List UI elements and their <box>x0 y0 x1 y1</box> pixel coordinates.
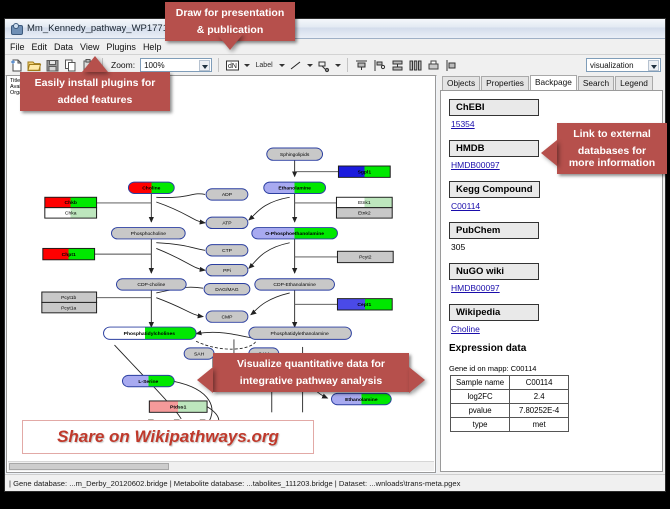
stack-icon[interactable] <box>390 58 405 73</box>
tab-objects[interactable]: Objects <box>442 76 480 90</box>
tab-properties[interactable]: Properties <box>481 76 529 90</box>
svg-text:Cept1: Cept1 <box>357 302 371 308</box>
svg-text:Pcyt1a: Pcyt1a <box>61 305 76 311</box>
node-phosphatidylcholines[interactable]: Phosphatidylcholines <box>104 327 197 339</box>
node-atp[interactable]: ATP <box>206 217 248 228</box>
table-row: log2FC 2.4 <box>451 390 569 404</box>
menu-view[interactable]: View <box>80 42 99 52</box>
cell-value: C00114 <box>510 376 569 390</box>
plugins-callout: Easily install plugins for added feature… <box>20 72 170 111</box>
link-callout-line3: more information <box>557 157 667 174</box>
svg-text:Pcyt1b: Pcyt1b <box>61 295 76 301</box>
datanode-icon[interactable]: dN <box>225 58 240 73</box>
visualize-callout-line1: Visualize quantitative data for <box>213 353 409 375</box>
svg-text:CTP: CTP <box>222 248 232 254</box>
menu-edit[interactable]: Edit <box>32 42 48 52</box>
node-ethanolamine-top[interactable]: Ethanolamine <box>264 182 326 193</box>
link-callout-arrow <box>541 140 557 166</box>
screenshot-root: Mm_Kennedy_pathway_WP1771_45176.gpml Fil… <box>0 0 670 509</box>
label-dropdown-icon[interactable] <box>278 58 285 73</box>
svg-text:Sgpl1: Sgpl1 <box>358 170 372 176</box>
plugins-callout-line2: added features <box>20 94 170 111</box>
svg-text:ADP: ADP <box>222 192 232 198</box>
svg-text:DAG/MAG: DAG/MAG <box>215 287 239 293</box>
svg-text:Choline: Choline <box>142 186 161 192</box>
visualize-callout-line2: integrative pathway analysis <box>213 375 409 392</box>
node-ctp[interactable]: CTP <box>206 245 248 256</box>
chevron-down-icon[interactable] <box>648 60 659 71</box>
svg-text:Etnk2: Etnk2 <box>358 211 371 217</box>
canvas-hscrollbar[interactable] <box>8 461 434 471</box>
table-row: pvalue 7.80252E-4 <box>451 404 569 418</box>
zoom-value: 100% <box>144 61 164 70</box>
visualize-callout: Visualize quantitative data for integrat… <box>213 353 409 392</box>
link-callout: Link to external databases for more info… <box>557 123 667 174</box>
distribute-icon[interactable] <box>408 58 423 73</box>
node-sah[interactable]: SAH <box>184 348 214 359</box>
draw-callout-arrow <box>217 34 243 50</box>
gene-pcyt1b[interactable]: Pcyt1b <box>42 292 97 302</box>
tab-legend[interactable]: Legend <box>615 76 653 90</box>
pathway-canvas[interactable]: Title: Availa Organ <box>6 75 436 473</box>
plugins-callout-arrow <box>82 56 108 72</box>
gene-pcyt1a[interactable]: Pcyt1a <box>42 302 97 312</box>
shape-icon[interactable] <box>316 58 331 73</box>
node-phosphocholine[interactable]: Phosphocholine <box>112 228 186 239</box>
svg-text:CDP-Ethanolamine: CDP-Ethanolamine <box>273 282 316 288</box>
expression-data-table: Sample name C00114 log2FC 2.4 pvalue 7.8… <box>450 375 569 432</box>
gene-sgpl1[interactable]: Sgpl1 <box>338 166 390 177</box>
share-banner: Share on Wikipathways.org <box>22 420 314 454</box>
share-banner-text: Share on Wikipathways.org <box>57 427 279 447</box>
node-adp[interactable]: ADP <box>206 189 248 200</box>
svg-text:CMP: CMP <box>221 314 232 320</box>
order-icon[interactable] <box>444 58 459 73</box>
svg-text:Ethanolamine: Ethanolamine <box>278 186 311 192</box>
zoom-label: Zoom: <box>111 60 135 70</box>
node-o-phosphoethanolamine[interactable]: O-Phosphoethanolamine <box>252 228 338 239</box>
svg-text:Ethanolamine: Ethanolamine <box>345 397 378 403</box>
backpage-heading-pubchem: PubChem <box>449 222 539 239</box>
svg-text:dN: dN <box>228 63 237 70</box>
svg-text:Chkb: Chkb <box>64 200 76 206</box>
line-dropdown-icon[interactable] <box>306 58 313 73</box>
app-icon <box>10 22 23 35</box>
svg-text:SAH: SAH <box>194 351 205 357</box>
svg-text:Phosphatidylcholines: Phosphatidylcholines <box>124 331 176 337</box>
cell-label: Sample name <box>451 376 510 390</box>
canvas-hscrollbar-thumb[interactable] <box>9 463 169 470</box>
chevron-down-icon[interactable] <box>199 60 210 71</box>
cell-value: 2.4 <box>510 390 569 404</box>
gene-etnk1[interactable]: Etnk1 <box>336 197 392 207</box>
copy-icon[interactable] <box>63 58 78 73</box>
svg-text:Pcyt2: Pcyt2 <box>359 255 372 261</box>
cell-label: log2FC <box>451 390 510 404</box>
svg-text:Etnk1: Etnk1 <box>358 200 371 206</box>
backpage-link-nugo[interactable]: HMDB00097 <box>451 283 654 293</box>
backpage-link-kegg[interactable]: C00114 <box>451 201 654 211</box>
svg-text:Ptdss1: Ptdss1 <box>170 404 187 410</box>
gene-chpt1[interactable]: Chpt1 <box>43 248 95 259</box>
cell-value: 7.80252E-4 <box>510 404 569 418</box>
gene-pcyt2[interactable]: Pcyt2 <box>337 251 393 262</box>
title-bar: Mm_Kennedy_pathway_WP1771_45176.gpml <box>5 19 665 39</box>
gene-etnk2[interactable]: Etnk2 <box>336 208 392 218</box>
svg-text:ATP: ATP <box>222 221 231 227</box>
node-l-serine-left[interactable]: L-Serine <box>122 375 174 386</box>
node-sphingolipids[interactable]: Sphingolipids <box>267 148 323 160</box>
gene-chka[interactable]: Chka <box>45 208 97 218</box>
svg-text:Chka: Chka <box>65 211 77 217</box>
align-left-icon[interactable] <box>372 58 387 73</box>
svg-text:Sphingolipids: Sphingolipids <box>280 152 310 158</box>
tab-search[interactable]: Search <box>578 76 614 90</box>
backpage-heading-nugo: NuGO wiki <box>449 263 539 280</box>
table-row: Sample name C00114 <box>451 376 569 390</box>
node-cdp-ethanolamine[interactable]: CDP-Ethanolamine <box>255 279 335 290</box>
node-choline-top[interactable]: Choline <box>128 182 174 193</box>
draw-callout-line1: Draw for presentation <box>165 2 295 24</box>
status-bar: | Gene database: ...m_Derby_20120602.bri… <box>5 474 665 491</box>
align-top-icon[interactable] <box>354 58 369 73</box>
table-row: type met <box>451 418 569 432</box>
menu-plugins[interactable]: Plugins <box>106 42 136 52</box>
node-cmp[interactable]: CMP <box>206 311 248 322</box>
backpage-value-pubchem: 305 <box>451 242 654 252</box>
backpage-heading-hmdb: HMDB <box>449 140 539 157</box>
backpage-heading-wikipedia: Wikipedia <box>449 304 539 321</box>
backpage-heading-kegg: Kegg Compound <box>449 181 540 198</box>
node-cdp-choline[interactable]: CDP-choline <box>116 279 186 290</box>
svg-text:PPi: PPi <box>223 268 231 274</box>
svg-text:CDP-choline: CDP-choline <box>137 282 165 288</box>
svg-text:L-Serine: L-Serine <box>138 379 158 385</box>
visualize-callout-arrow-left <box>197 367 213 393</box>
save-file-icon[interactable] <box>45 58 60 73</box>
link-callout-line2: databases for <box>557 145 667 157</box>
tab-backpage[interactable]: Backpage <box>530 75 577 90</box>
node-ethanolamine-right[interactable]: Ethanolamine <box>331 393 391 404</box>
expression-data-title: Expression data <box>449 343 654 354</box>
menu-bar: File Edit Data View Plugins Help <box>5 39 665 55</box>
pathway-graph[interactable]: Sphingolipids Choline Ethanolamine ADP <box>7 76 435 472</box>
new-file-icon[interactable] <box>9 58 24 73</box>
svg-text:O-Phosphoethanolamine: O-Phosphoethanolamine <box>265 231 324 237</box>
gene-cept1[interactable]: Cept1 <box>337 299 392 310</box>
menu-data[interactable]: Data <box>54 42 73 52</box>
menu-file[interactable]: File <box>10 42 25 52</box>
svg-text:Phosphatidylethanolamine: Phosphatidylethanolamine <box>271 331 330 337</box>
gene-ptdss1[interactable]: Ptdss1 <box>149 401 207 412</box>
datanode-dropdown-icon[interactable] <box>243 58 250 73</box>
gene-chkb[interactable]: Chkb <box>45 197 97 207</box>
cell-label: pvalue <box>451 404 510 418</box>
backpage-link-wikipedia[interactable]: Choline <box>451 324 654 334</box>
menu-help[interactable]: Help <box>143 42 162 52</box>
visualization-combobox[interactable]: visualization <box>586 58 661 72</box>
node-dagmag[interactable]: DAG/MAG <box>204 283 250 294</box>
status-text: | Gene database: ...m_Derby_20120602.bri… <box>9 479 460 488</box>
svg-text:Chpt1: Chpt1 <box>62 252 76 258</box>
node-phosphatidylethanolamine[interactable]: Phosphatidylethanolamine <box>249 327 352 339</box>
visualize-callout-arrow-right <box>409 367 425 393</box>
toolbar-separator-2 <box>218 58 219 72</box>
cell-label: type <box>451 418 510 432</box>
svg-text:Phosphocholine: Phosphocholine <box>131 231 167 237</box>
line-icon[interactable] <box>288 58 303 73</box>
plugins-callout-line1: Easily install plugins for <box>20 72 170 94</box>
node-ppi[interactable]: PPi <box>206 265 248 276</box>
shape-dropdown-icon[interactable] <box>334 58 341 73</box>
toolbar-separator-3 <box>347 58 348 72</box>
cell-value: met <box>510 418 569 432</box>
sidebar-tab-strip: Objects Properties Backpage Search Legen… <box>437 74 665 90</box>
label-icon[interactable]: Label <box>253 58 275 73</box>
gene-id-on-mapp: Gene id on mapp: C00114 <box>449 364 654 373</box>
print-icon[interactable] <box>426 58 441 73</box>
link-callout-line1: Link to external <box>557 123 667 145</box>
zoom-combobox[interactable]: 100% <box>140 58 212 72</box>
backpage-heading-chebi: ChEBI <box>449 99 539 116</box>
open-file-icon[interactable] <box>27 58 42 73</box>
visualization-value: visualization <box>590 61 634 70</box>
